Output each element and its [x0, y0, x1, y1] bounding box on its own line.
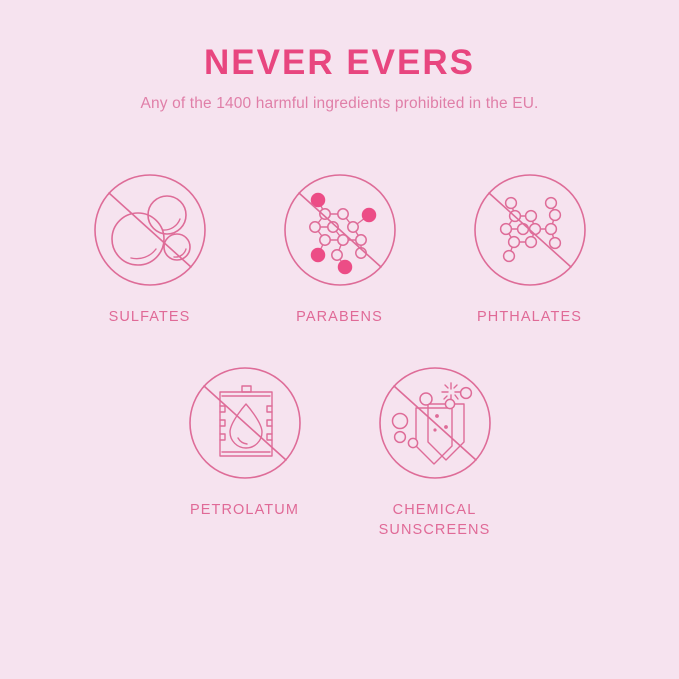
- icon-row-top: SULFATES: [0, 171, 679, 328]
- no-sunscreen-bottle-icon: [376, 364, 494, 482]
- page-subtitle: Any of the 1400 harmful ingredients proh…: [0, 95, 679, 114]
- item-label: CHEMICAL SUNSCREENS: [379, 501, 491, 540]
- item-label: PHTHALATES: [477, 308, 582, 328]
- never-evers-infographic: NEVER EVERS Any of the 1400 harmful ingr…: [0, 0, 679, 679]
- item-chemical-sunscreens: CHEMICAL SUNSCREENS: [376, 364, 494, 540]
- item-label: SULFATES: [109, 308, 191, 328]
- page-title: NEVER EVERS: [0, 43, 679, 83]
- no-molecule-hollow-icon: [471, 171, 589, 289]
- header: NEVER EVERS Any of the 1400 harmful ingr…: [0, 0, 679, 114]
- item-label: PARABENS: [296, 308, 383, 328]
- item-phthalates: PHTHALATES: [471, 171, 589, 328]
- no-molecule-filled-icon: [281, 171, 399, 289]
- item-petrolatum: PETROLATUM: [186, 364, 304, 521]
- item-sulfates: SULFATES: [91, 171, 209, 328]
- no-oil-barrel-icon: [186, 364, 304, 482]
- item-label: PETROLATUM: [190, 501, 299, 521]
- icon-row-bottom: PETROLATUM: [0, 364, 679, 540]
- no-bubbles-icon: [91, 171, 209, 289]
- item-parabens: PARABENS: [281, 171, 399, 328]
